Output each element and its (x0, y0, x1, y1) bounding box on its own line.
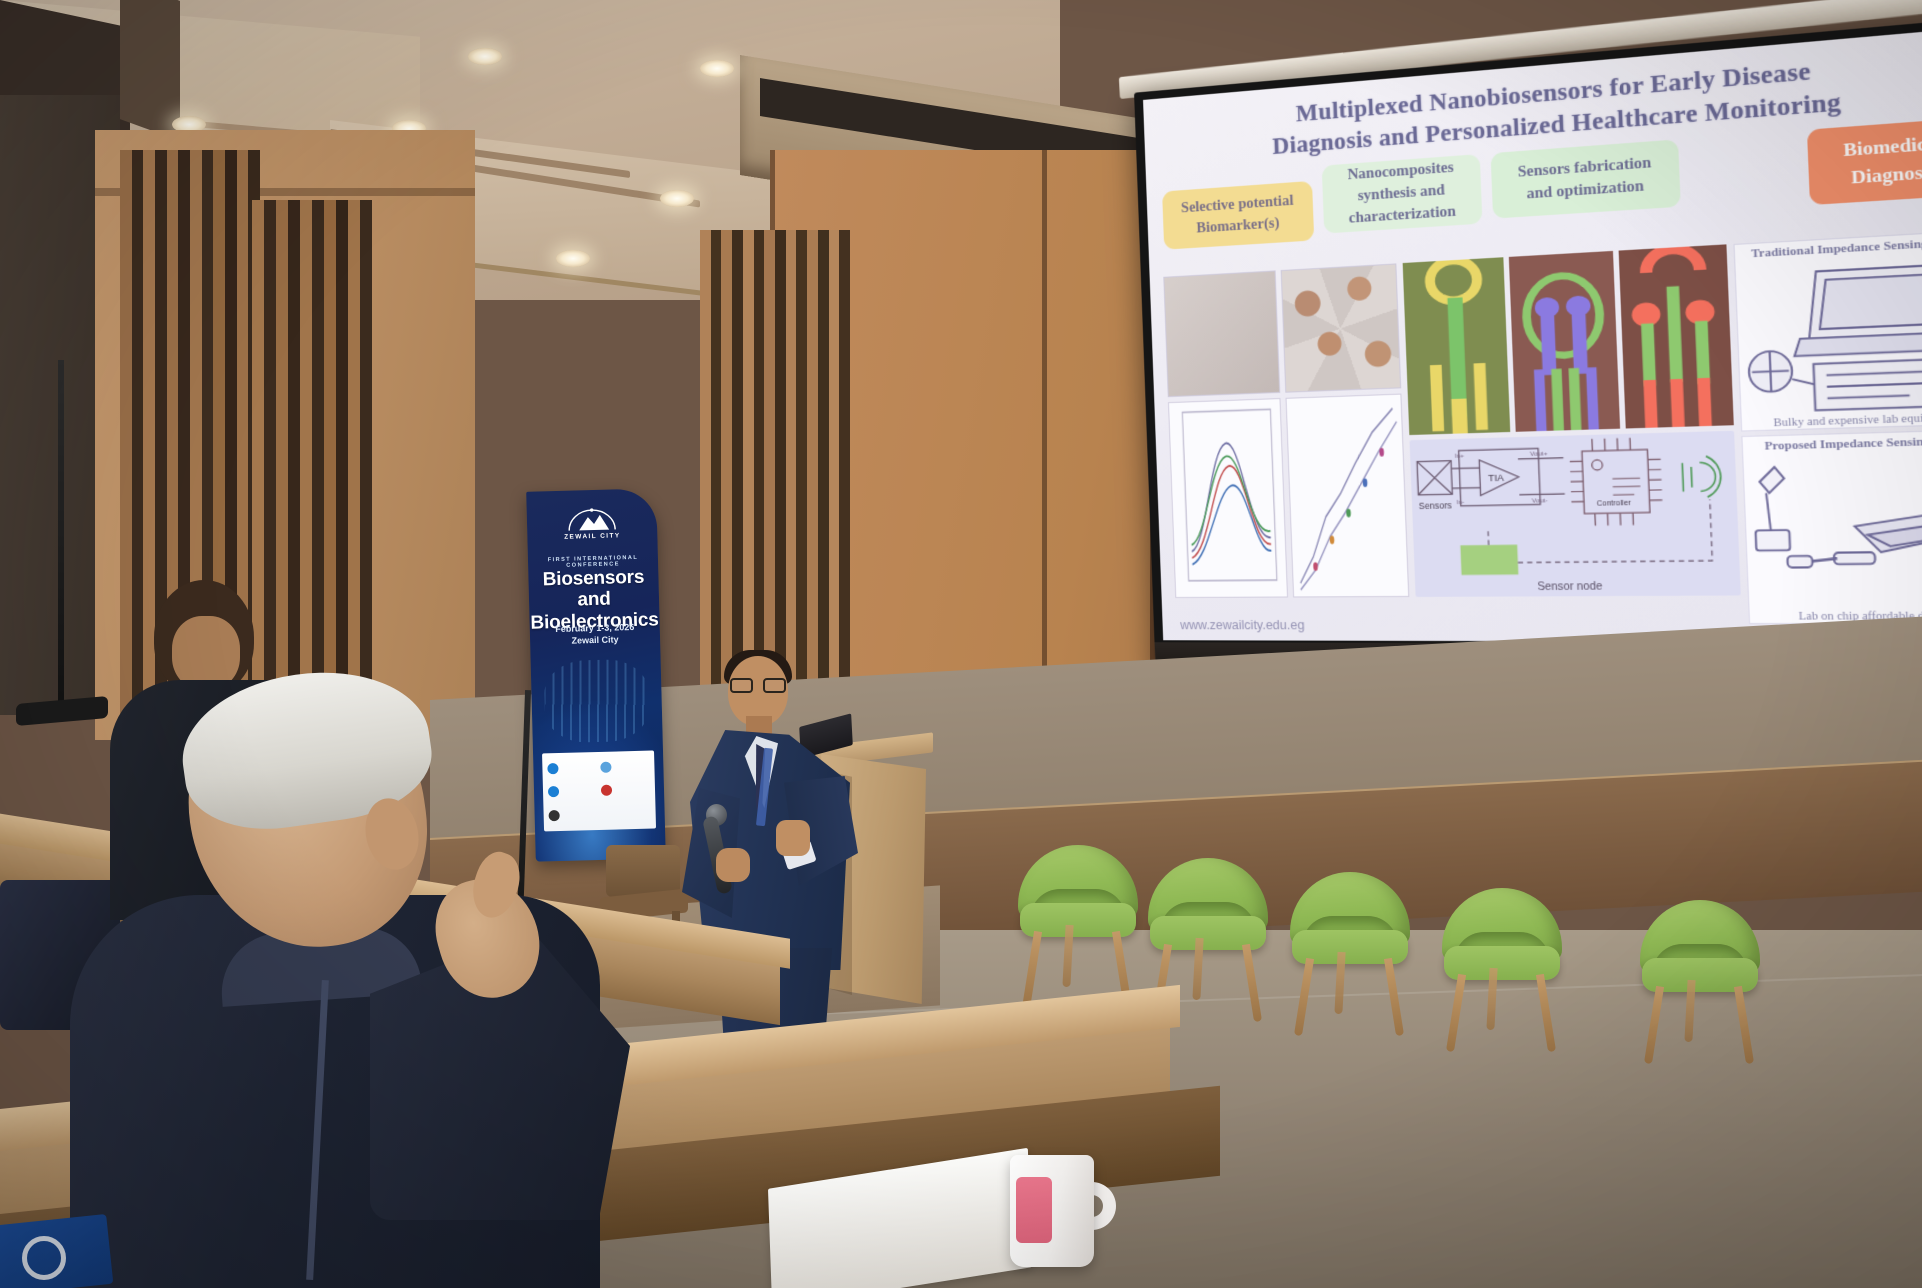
wall-seam (1042, 150, 1047, 750)
sensor-chip-row (1403, 244, 1734, 435)
tag-nanocomposites: Nanocomposites synthesis and characteriz… (1322, 154, 1483, 234)
plot-row (1168, 394, 1409, 598)
screen-surface: Multiplexed Nanobiosensors for Early Dis… (1143, 25, 1922, 642)
downlight (660, 190, 694, 207)
downlight (556, 250, 590, 267)
speaker-raised-fist (776, 820, 810, 856)
circuit-label-controller: Controller (1596, 499, 1631, 507)
lab-equipment-icon (1735, 248, 1922, 419)
slide-url: www.zewailcity.edu.eg (1180, 618, 1305, 632)
wood-slat-panel (700, 230, 850, 710)
auditorium-scene: Multiplexed Nanobiosensors for Early Dis… (0, 0, 1922, 1288)
circuit-label-in-p: In+ (1455, 453, 1465, 460)
circuit-label-tia: TIA (1488, 473, 1505, 484)
banner-location: Zewail City (530, 632, 660, 648)
tag-sensors-fabrication: Sensors fabrication and optimization (1491, 139, 1681, 218)
slide-column-left (1163, 263, 1409, 598)
micrograph-row (1163, 263, 1401, 397)
tag-biomedical-diagnosis: Biomedical Diagnosis (1807, 117, 1922, 205)
circuit-label-in-n: In- (1457, 500, 1465, 507)
sensor-chip-red (1619, 244, 1734, 428)
wireless-antenna-icon (1682, 456, 1721, 498)
banner-pole (58, 360, 64, 710)
audience-member-foreground (70, 680, 630, 1288)
cv-plot (1168, 398, 1288, 598)
proposed-device-panel: Proposed Impedance Sensing Device (1741, 429, 1922, 624)
honeycomb-micrograph (1280, 263, 1401, 392)
speaker-hand-holding-mic (716, 848, 750, 882)
sensor-chip-yellow (1403, 257, 1511, 435)
zewail-city-logo: ZEWAIL CITY (559, 505, 626, 541)
circuit-label-sensor-node: Sensor node (1537, 581, 1603, 593)
sem-micrograph (1163, 270, 1279, 397)
sensor-chip-purple (1509, 251, 1620, 432)
traditional-device-panel: Traditional Impedance Sensing Device (1733, 229, 1922, 431)
circuit-label-vout-p: Vout+ (1530, 451, 1548, 458)
calibration-plot (1285, 394, 1409, 598)
downlight (468, 48, 502, 65)
slide-column-middle: Sensors TIA Vout+ Vout- In+ In- (1403, 244, 1741, 597)
circuit-label-vout-n: Vout- (1532, 498, 1548, 505)
ceiling-dark-slab (120, 0, 180, 141)
presentation-slide: Multiplexed Nanobiosensors for Early Dis… (1143, 25, 1922, 642)
folder-emblem-icon (22, 1236, 66, 1280)
power-supply-block (1460, 545, 1518, 575)
slide-panel-grid: Sensors TIA Vout+ Vout- In+ In- (1163, 229, 1922, 598)
eyeglasses-icon (730, 678, 786, 693)
banner-title-line-1: Biosensors and (528, 566, 659, 612)
mountain-arch-icon (563, 505, 622, 533)
projection-screen: Multiplexed Nanobiosensors for Early Dis… (1134, 15, 1922, 690)
banner-logo-text: ZEWAIL CITY (559, 532, 625, 541)
microcontroller-icon (1569, 437, 1663, 526)
audience-face (172, 616, 240, 690)
downlight (700, 60, 734, 77)
slide-column-right: Traditional Impedance Sensing Device (1733, 229, 1922, 595)
circuit-label-sensors: Sensors (1419, 500, 1452, 511)
sensor-node-circuit-diagram: Sensors TIA Vout+ Vout- In+ In- (1410, 431, 1741, 597)
coffee-mug (1010, 1155, 1094, 1267)
tag-biomarkers: Selective potential Biomarker(s) (1162, 181, 1314, 250)
banner-date-block: February 1-3, 2026 Zewail City (530, 620, 661, 648)
lab-on-chip-icon (1743, 447, 1922, 611)
